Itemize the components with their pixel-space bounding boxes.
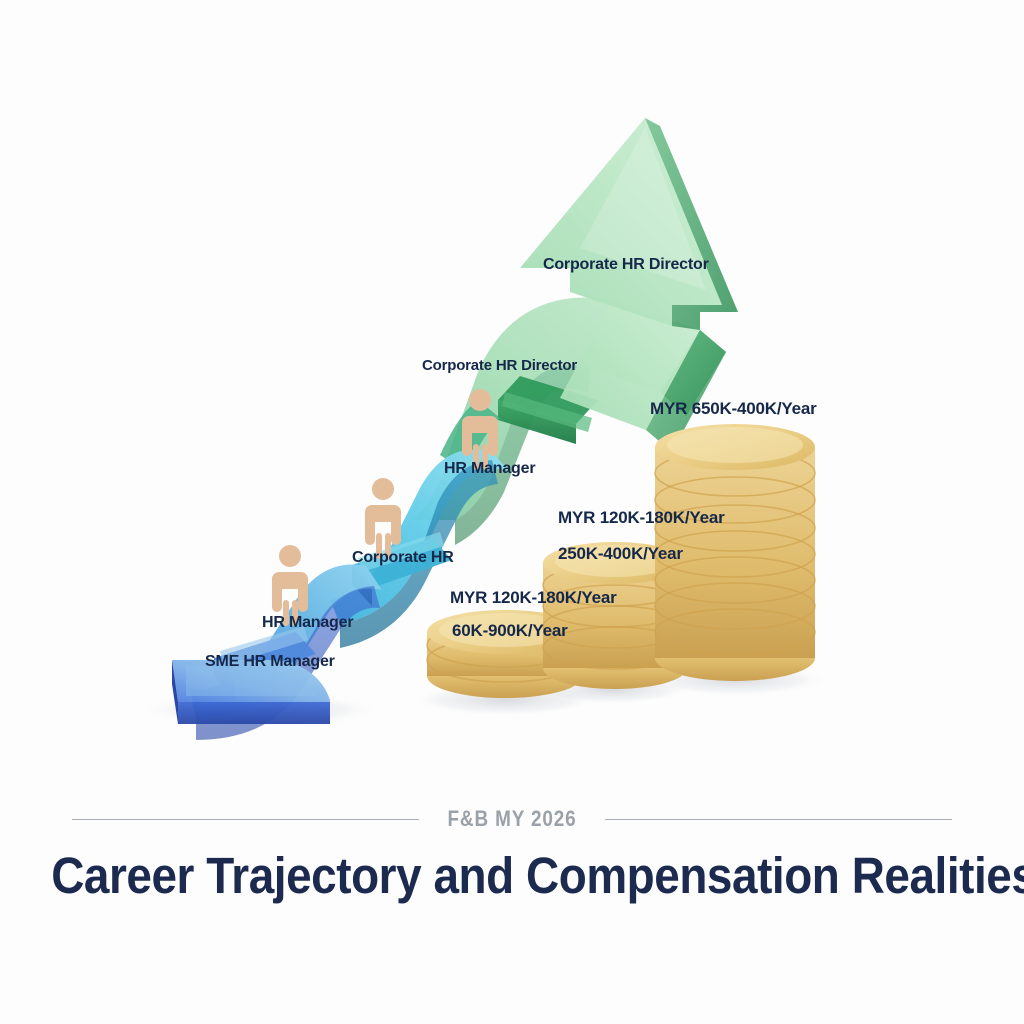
step-label-1b: HR Manager bbox=[262, 615, 353, 631]
figure-label-3: Corporate HR Director bbox=[422, 358, 577, 373]
divider-left bbox=[72, 819, 419, 820]
eyebrow-text: F&B MY 2026 bbox=[448, 806, 577, 832]
money-label-small-caption: MYR 120K-180K/Year bbox=[450, 589, 617, 606]
staircase-graphic: Corporate HR Director Corporate HR Direc… bbox=[0, 0, 1024, 800]
money-label-medium: 250K-400K/Year bbox=[558, 545, 683, 562]
arrow-label: Corporate HR Director bbox=[543, 257, 709, 273]
infographic-canvas: Corporate HR Director Corporate HR Direc… bbox=[0, 0, 1024, 1024]
page-title: Career Trajectory and Compensation Reali… bbox=[51, 846, 973, 905]
money-label-small: 60K-900K/Year bbox=[452, 622, 568, 639]
divider-right bbox=[605, 819, 952, 820]
title-block: F&B MY 2026 Career Trajectory and Compen… bbox=[0, 806, 1024, 905]
money-label-tall: MYR 650K-400K/Year bbox=[650, 400, 817, 417]
step-label-2: Corporate HR bbox=[352, 550, 454, 566]
eyebrow-row: F&B MY 2026 bbox=[72, 806, 952, 832]
step-label-1: SME HR Manager bbox=[205, 654, 335, 670]
money-label-medium-caption: MYR 120K-180K/Year bbox=[558, 509, 725, 526]
blue-base-edge bbox=[178, 702, 330, 724]
step-label-3: HR Manager bbox=[444, 461, 535, 477]
